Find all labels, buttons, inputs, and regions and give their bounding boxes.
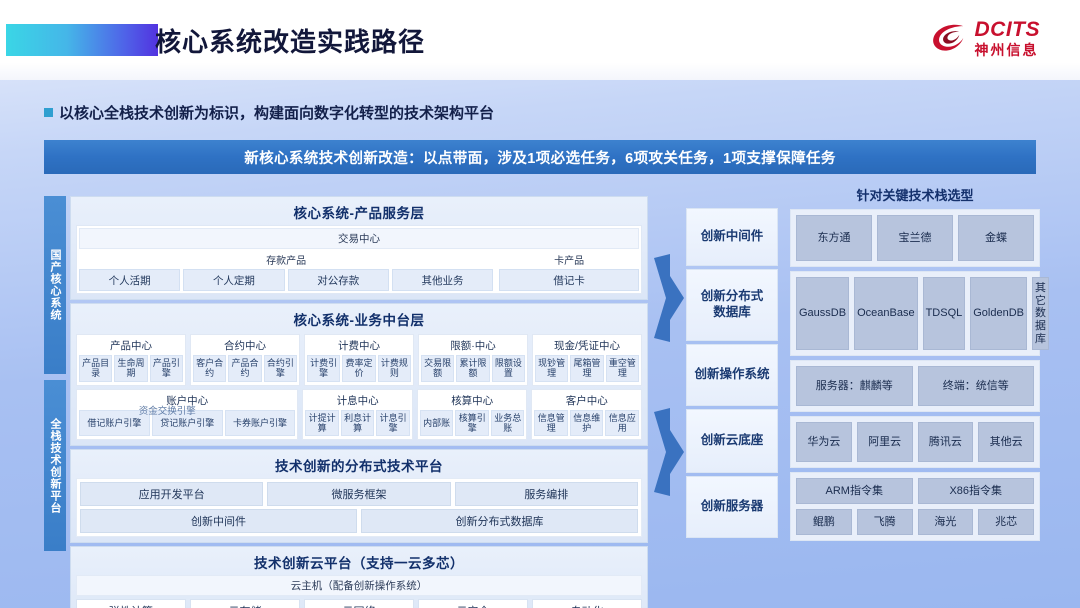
- center-title: 客户中心: [534, 392, 639, 410]
- card-group-label: 卡产品: [499, 251, 639, 269]
- list-item[interactable]: 尾箱管理: [570, 355, 603, 382]
- center-items: 计费引擎 费率定价 计费规则: [307, 355, 411, 382]
- vendor-cell[interactable]: ARM指令集: [796, 478, 913, 504]
- center-items: 现钞管理 尾箱管理 重空管理: [535, 355, 639, 382]
- vendor-group-middleware: 东方通 宝兰德 金蝶: [790, 209, 1040, 267]
- layer-title-business: 核心系统-业务中台层: [76, 307, 642, 332]
- list-item[interactable]: 卡券账户引擎: [225, 410, 296, 436]
- list-item[interactable]: 自动化: [532, 599, 642, 608]
- center-items: 客户合约 产品合约 合约引擎: [193, 355, 297, 382]
- brand-logo: DCITS 神州信息: [930, 18, 1041, 58]
- distributed-row-2: 创新中间件 创新分布式数据库: [80, 509, 638, 533]
- list-item[interactable]: 产品引擎: [150, 355, 183, 382]
- center-title: 现金/凭证中心: [535, 337, 639, 355]
- cloud-host-row[interactable]: 云主机（配备创新操作系统）: [76, 575, 642, 596]
- vendor-cell[interactable]: 宝兰德: [877, 215, 953, 261]
- innovation-category-column: 创新中间件 创新分布式 数据库 创新操作系统 创新云底座 创新服务器: [686, 208, 778, 541]
- vendor-row-instruction-sets: ARM指令集 X86指令集: [796, 478, 1034, 504]
- list-item[interactable]: 现钞管理: [535, 355, 568, 382]
- center-title: 产品中心: [79, 337, 183, 355]
- layer-title-product: 核心系统-产品服务层: [76, 200, 642, 225]
- list-item[interactable]: 对公存款: [288, 269, 389, 291]
- list-item[interactable]: 云存储: [190, 599, 300, 608]
- mid-item-middleware[interactable]: 创新中间件: [686, 208, 778, 266]
- center-card-cash-voucher[interactable]: 现金/凭证中心 现钞管理 尾箱管理 重空管理: [532, 334, 642, 386]
- cloud-items-row: 弹性计算 云存储 云网络 云安全 自动化: [76, 599, 642, 608]
- list-item[interactable]: 信息管理: [534, 410, 568, 437]
- list-item[interactable]: 计费引擎: [307, 355, 340, 382]
- list-item[interactable]: 计息引擎: [376, 410, 410, 437]
- distributed-row-1: 应用开发平台 微服务框架 服务编排: [80, 482, 638, 506]
- layer-distributed-tech-platform: 技术创新的分布式技术平台 应用开发平台 微服务框架 服务编排 创新中间件 创新分…: [70, 449, 648, 543]
- vendor-group-server: ARM指令集 X86指令集 鲲鹏 飞腾 海光 兆芯: [790, 472, 1040, 541]
- fund-exchange-engine-overlay: 资金交换引擎: [139, 403, 196, 417]
- list-item[interactable]: 交易限额: [421, 355, 454, 382]
- center-items: 产品目录 生命周期 产品引擎: [79, 355, 183, 382]
- dcits-swirl-logo-icon: [930, 18, 968, 58]
- list-item[interactable]: 累计限额: [456, 355, 489, 382]
- deposit-group-label: 存款产品: [79, 251, 493, 269]
- page-title: 核心系统改造实践路径: [155, 22, 425, 59]
- center-card-account[interactable]: 账户中心 借记账户引擎 贷记账户引擎 卡券账户引擎 资金交换引擎: [76, 389, 298, 441]
- layer-cloud-platform: 技术创新云平台（支持一云多芯） 云主机（配备创新操作系统） 弹性计算 云存储 云…: [70, 546, 648, 608]
- vendor-row: 华为云 阿里云 腾讯云 其他云: [796, 422, 1034, 462]
- center-items: 交易限额 累计限额 限额设置: [421, 355, 525, 382]
- vendor-cell[interactable]: 华为云: [796, 422, 852, 462]
- list-item[interactable]: 信息维护: [570, 410, 604, 437]
- side-tab-fullstack-platform: 全栈技术创新平台: [44, 380, 66, 551]
- layer-title-cloud: 技术创新云平台（支持一云多芯）: [76, 550, 642, 575]
- list-item[interactable]: 产品目录: [79, 355, 112, 382]
- page-header: 核心系统改造实践路径 DCITS 神州信息: [0, 0, 1080, 80]
- business-center-row-2: 账户中心 借记账户引擎 贷记账户引擎 卡券账户引擎 资金交换引擎 计息中心 计提…: [76, 389, 642, 441]
- list-item[interactable]: 内部账: [420, 410, 454, 437]
- list-item[interactable]: 借记卡: [499, 269, 639, 291]
- product-layer-body: 交易中心 存款产品 个人活期 个人定期 对公存款 其他业务 卡产品: [76, 225, 642, 294]
- center-card-limit[interactable]: 限额·中心 交易限额 累计限额 限额设置: [418, 334, 528, 386]
- subtitle-text: 以核心全栈技术创新为标识，构建面向数字化转型的技术架构平台: [59, 102, 494, 123]
- deposit-product-group: 存款产品 个人活期 个人定期 对公存款 其他业务: [79, 251, 493, 291]
- vendor-cell[interactable]: GoldenDB: [970, 277, 1027, 350]
- arrow-right-icon-bottom: [652, 404, 686, 500]
- card-items: 借记卡: [499, 269, 639, 291]
- mid-item-cloud-base[interactable]: 创新云底座: [686, 409, 778, 473]
- list-item[interactable]: 利息计算: [341, 410, 375, 437]
- list-item[interactable]: 个人定期: [183, 269, 284, 291]
- arrow-right-icon-top: [652, 250, 686, 346]
- center-card-billing[interactable]: 计费中心 计费引擎 费率定价 计费规则: [304, 334, 414, 386]
- vendor-cell[interactable]: 阿里云: [857, 422, 913, 462]
- banner-text: 新核心系统技术创新改造：以点带面，涉及1项必选任务，6项攻关任务，1项支撑保障任…: [244, 147, 836, 168]
- transaction-center-row: 交易中心: [79, 228, 639, 249]
- vendor-row-chips: 鲲鹏 飞腾 海光 兆芯: [796, 509, 1034, 535]
- center-title: 限额·中心: [421, 337, 525, 355]
- side-tab-core-system: 国产核心系统: [44, 196, 66, 374]
- vendor-cell[interactable]: 终端：统信等: [918, 366, 1035, 406]
- list-item[interactable]: 服务编排: [455, 482, 638, 506]
- mid-item-distributed-database[interactable]: 创新分布式 数据库: [686, 269, 778, 341]
- side-tab-fullstack-label: 全栈技术创新平台: [47, 418, 63, 514]
- distributed-body: 应用开发平台 微服务框架 服务编排 创新中间件 创新分布式数据库: [76, 478, 642, 537]
- list-item[interactable]: 合约引擎: [264, 355, 297, 382]
- vendor-cell[interactable]: TDSQL: [923, 277, 966, 350]
- vendor-cell[interactable]: 其它数据库: [1032, 277, 1049, 350]
- vendor-group-os: 服务器：麒麟等 终端：统信等: [790, 360, 1040, 412]
- center-items: 内部账 核算引擎 业务总账: [420, 410, 525, 437]
- list-item[interactable]: 核算引擎: [455, 410, 489, 437]
- vendor-cell[interactable]: 海光: [918, 509, 974, 535]
- layer-stack: 核心系统-产品服务层 交易中心 存款产品 个人活期 个人定期 对公存款 其他业务: [70, 196, 648, 608]
- list-item[interactable]: 费率定价: [342, 355, 375, 382]
- vendor-cell[interactable]: 鲲鹏: [796, 509, 852, 535]
- tech-stack-selection-column: 针对关键技术栈选型 东方通 宝兰德 金蝶 GaussDB OceanBase T…: [790, 185, 1040, 545]
- vendor-cell[interactable]: 金蝶: [958, 215, 1034, 261]
- tech-stack-heading: 针对关键技术栈选型: [790, 185, 1040, 204]
- list-item[interactable]: 限额设置: [492, 355, 525, 382]
- list-item[interactable]: 信息应用: [605, 410, 639, 437]
- list-item[interactable]: 业务总账: [491, 410, 525, 437]
- center-card-contract[interactable]: 合约中心 客户合约 产品合约 合约引擎: [190, 334, 300, 386]
- list-item[interactable]: 计费规则: [378, 355, 411, 382]
- center-title: 核算中心: [420, 392, 525, 410]
- vendor-row: GaussDB OceanBase TDSQL GoldenDB 其它数据库: [796, 277, 1034, 350]
- center-items: 计提计算 利息计算 计息引擎: [305, 410, 410, 437]
- list-item[interactable]: 云安全: [418, 599, 528, 608]
- center-card-product[interactable]: 产品中心 产品目录 生命周期 产品引擎: [76, 334, 186, 386]
- logo-text-cn: 神州信息: [975, 43, 1041, 57]
- center-title: 合约中心: [193, 337, 297, 355]
- list-item[interactable]: 生命周期: [114, 355, 147, 382]
- layer-title-distributed: 技术创新的分布式技术平台: [76, 453, 642, 478]
- highlight-banner: 新核心系统技术创新改造：以点带面，涉及1项必选任务，6项攻关任务，1项支撑保障任…: [44, 140, 1036, 174]
- list-item[interactable]: 产品合约: [228, 355, 261, 382]
- deposit-items: 个人活期 个人定期 对公存款 其他业务: [79, 269, 493, 291]
- list-item[interactable]: 客户合约: [193, 355, 226, 382]
- vendor-cell[interactable]: 东方通: [796, 215, 872, 261]
- list-item[interactable]: 应用开发平台: [80, 482, 263, 506]
- center-card-customer[interactable]: 客户中心 信息管理 信息维护 信息应用: [531, 389, 642, 441]
- vendor-group-cloud: 华为云 阿里云 腾讯云 其他云: [790, 416, 1040, 468]
- list-item[interactable]: 计提计算: [305, 410, 339, 437]
- vendor-cell[interactable]: 服务器：麒麟等: [796, 366, 913, 406]
- product-groups: 存款产品 个人活期 个人定期 对公存款 其他业务 卡产品 借记卡: [79, 251, 639, 291]
- list-item[interactable]: 云网络: [304, 599, 414, 608]
- architecture-panel: 国产核心系统 全栈技术创新平台 核心系统-产品服务层 交易中心 存款产品 个人活…: [44, 196, 648, 551]
- center-card-accounting[interactable]: 核算中心 内部账 核算引擎 业务总账: [417, 389, 528, 441]
- mid-item-operating-system[interactable]: 创新操作系统: [686, 344, 778, 406]
- vendor-cell[interactable]: 飞腾: [857, 509, 913, 535]
- vendor-cell[interactable]: 兆芯: [978, 509, 1034, 535]
- list-item[interactable]: 创新中间件: [80, 509, 357, 533]
- layer-product-service: 核心系统-产品服务层 交易中心 存款产品 个人活期 个人定期 对公存款 其他业务: [70, 196, 648, 300]
- list-item[interactable]: 个人活期: [79, 269, 180, 291]
- center-items: 信息管理 信息维护 信息应用: [534, 410, 639, 437]
- vendor-cell[interactable]: 腾讯云: [918, 422, 974, 462]
- list-item[interactable]: 微服务框架: [267, 482, 450, 506]
- list-item[interactable]: 其他业务: [392, 269, 493, 291]
- center-title: 计费中心: [307, 337, 411, 355]
- title-accent-bar: [6, 24, 158, 56]
- card-product-group: 卡产品 借记卡: [499, 251, 639, 291]
- center-title: 计息中心: [305, 392, 410, 410]
- list-item[interactable]: 重空管理: [606, 355, 639, 382]
- bullet-square-icon: [44, 108, 53, 117]
- vendor-row: 东方通 宝兰德 金蝶: [796, 215, 1034, 261]
- mid-item-server[interactable]: 创新服务器: [686, 476, 778, 538]
- logo-text-en: DCITS: [975, 19, 1041, 40]
- subtitle: 以核心全栈技术创新为标识，构建面向数字化转型的技术架构平台: [44, 102, 494, 123]
- vendor-group-database: GaussDB OceanBase TDSQL GoldenDB 其它数据库: [790, 271, 1040, 356]
- vendor-cell[interactable]: GaussDB: [796, 277, 849, 350]
- list-item[interactable]: 弹性计算: [76, 599, 186, 608]
- vendor-cell[interactable]: X86指令集: [918, 478, 1035, 504]
- business-center-row-1: 产品中心 产品目录 生命周期 产品引擎 合约中心 客户合约 产品合约 合约引擎: [76, 334, 642, 386]
- side-tab-core-label: 国产核心系统: [47, 249, 63, 321]
- list-item[interactable]: 创新分布式数据库: [361, 509, 638, 533]
- vendor-row: 服务器：麒麟等 终端：统信等: [796, 366, 1034, 406]
- vendor-cell[interactable]: OceanBase: [854, 277, 917, 350]
- center-card-interest[interactable]: 计息中心 计提计算 利息计算 计息引擎: [302, 389, 413, 441]
- vendor-cell[interactable]: 其他云: [978, 422, 1034, 462]
- layer-business-middle-platform: 核心系统-业务中台层 产品中心 产品目录 生命周期 产品引擎 合约中心 客户合约…: [70, 303, 648, 446]
